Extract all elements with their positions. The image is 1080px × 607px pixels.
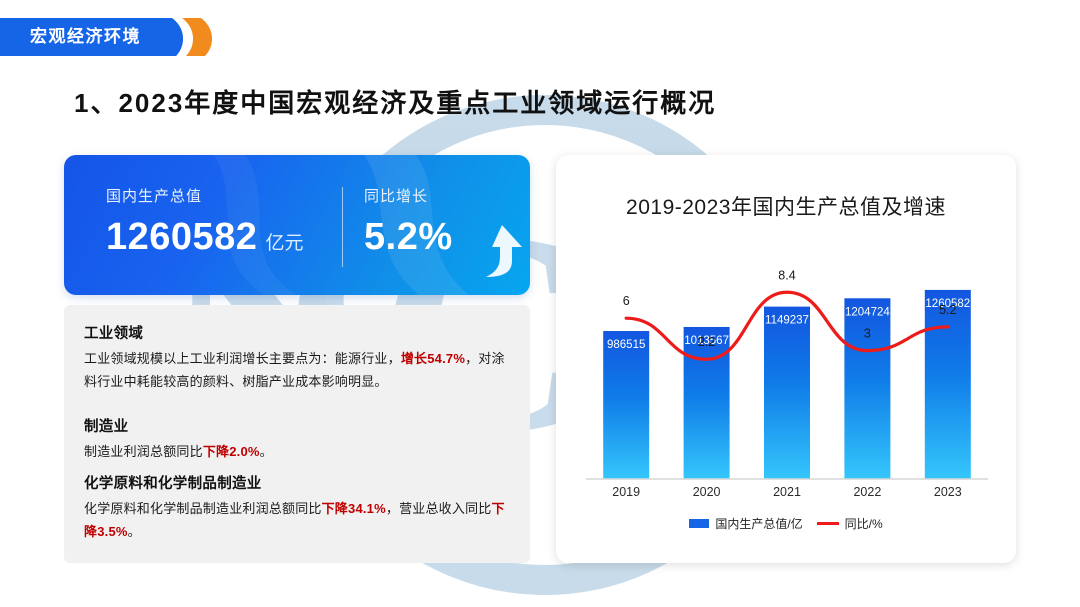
industry-text-panel: 工业领域 工业领域规模以上工业利润增长主要点为：能源行业，增长54.7%，对涂料… <box>64 305 530 563</box>
body-part: 工业领域规模以上工业利润增长主要点为：能源行业， <box>84 351 401 366</box>
chart-plot-area: 9865151013567114923712047241260582 62.28… <box>556 233 1016 493</box>
legend-label-bar: 国内生产总值/亿 <box>715 515 802 532</box>
bar <box>925 290 971 479</box>
bar <box>603 331 649 479</box>
chart-legend: 国内生产总值/亿 同比/% <box>556 515 1016 532</box>
bar <box>684 327 730 479</box>
text-section-industry: 工业领域 工业领域规模以上工业利润增长主要点为：能源行业，增长54.7%，对涂料… <box>84 322 514 394</box>
text-section-chemicals: 化学原料和化学制品制造业 化学原料和化学制品制造业利润总额同比下降34.1%，营… <box>84 472 514 544</box>
arrow-up-icon <box>472 221 524 279</box>
slide-canvas: NCIA 宏观经济环境 1、2023年度中国宏观经济及重点工业领域运行概况 国内… <box>0 0 1080 607</box>
legend-item-bar: 国内生产总值/亿 <box>689 515 802 532</box>
x-axis-tick-label: 2022 <box>832 485 902 499</box>
section-heading: 化学原料和化学制品制造业 <box>84 472 514 493</box>
legend-swatch-bar-icon <box>689 519 709 528</box>
x-axis-tick-label: 2023 <box>913 485 983 499</box>
gdp-chart-card: 2019-2023年国内生产总值及增速 98651510135671149237… <box>556 155 1016 563</box>
gdp-caption: 国内生产总值 <box>106 185 303 206</box>
body-part: 。 <box>128 524 141 539</box>
x-axis-labels: 20192020202120222023 <box>556 485 1016 505</box>
legend-item-line: 同比/% <box>817 515 883 532</box>
growth-caption: 同比增长 <box>364 185 453 206</box>
legend-swatch-line-icon <box>817 522 839 525</box>
line-value-label: 6 <box>623 294 630 308</box>
section-body: 工业领域规模以上工业利润增长主要点为：能源行业，增长54.7%，对涂料行业中耗能… <box>84 348 514 394</box>
chart-title: 2019-2023年国内生产总值及增速 <box>556 191 1016 221</box>
body-part: 。 <box>260 444 273 459</box>
bar <box>844 298 890 479</box>
line-value-label: 2.2 <box>698 335 715 349</box>
growth-value: 5.2% <box>364 218 453 256</box>
gdp-kpi-card: 国内生产总值 1260582 亿元 同比增长 5.2% <box>64 155 530 295</box>
section-tab-label: 宏观经济环境 <box>30 18 141 56</box>
line-value-label: 8.4 <box>778 268 795 282</box>
x-axis-tick-label: 2021 <box>752 485 822 499</box>
line-value-label: 3 <box>864 327 871 341</box>
x-axis-tick-label: 2020 <box>672 485 742 499</box>
growth-block: 同比增长 5.2% <box>364 185 453 256</box>
legend-label-line: 同比/% <box>845 515 883 532</box>
bar-value-label: 1204724 <box>845 306 890 318</box>
section-heading: 工业领域 <box>84 322 514 343</box>
gdp-value: 1260582 <box>106 218 257 256</box>
card-divider <box>342 187 343 267</box>
bar-value-label: 986515 <box>607 339 645 351</box>
body-part: 化学原料和化学制品制造业利润总额同比 <box>84 501 322 516</box>
gdp-block: 国内生产总值 1260582 亿元 <box>106 185 303 256</box>
body-highlight: 下降34.1% <box>322 501 386 516</box>
x-axis-tick-label: 2019 <box>591 485 661 499</box>
section-heading: 制造业 <box>84 415 514 436</box>
bar <box>764 307 810 479</box>
body-highlight: 下降2.0% <box>203 444 260 459</box>
section-body: 化学原料和化学制品制造业利润总额同比下降34.1%，营业总收入同比下降3.5%。 <box>84 498 514 544</box>
gdp-unit: 亿元 <box>265 228 303 255</box>
bar-value-label: 1149237 <box>765 315 809 327</box>
text-section-manufacturing: 制造业 制造业利润总额同比下降2.0%。 <box>84 415 514 464</box>
body-highlight: 增长54.7% <box>401 351 465 366</box>
body-part: 制造业利润总额同比 <box>84 444 203 459</box>
line-value-label: 5.2 <box>939 303 956 317</box>
page-title: 1、2023年度中国宏观经济及重点工业领域运行概况 <box>74 83 716 120</box>
body-part: ，营业总收入同比 <box>386 501 492 516</box>
section-body: 制造业利润总额同比下降2.0%。 <box>84 441 514 464</box>
